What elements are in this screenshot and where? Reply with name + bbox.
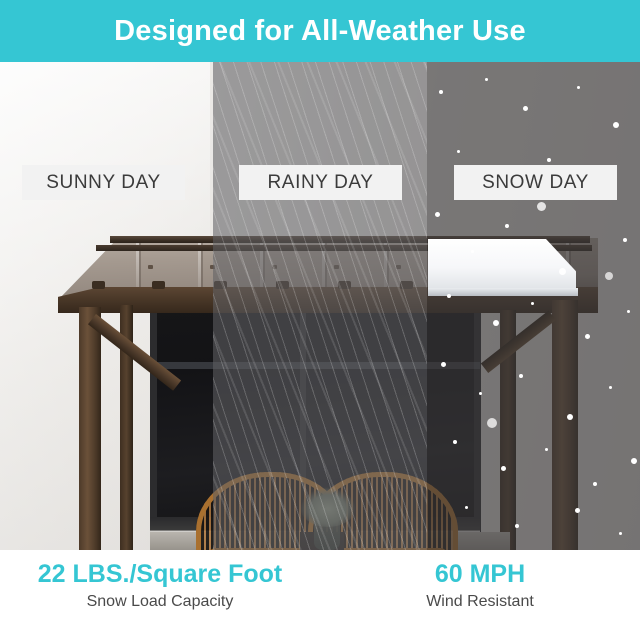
stat-snow-load-label: Snow Load Capacity (87, 592, 234, 613)
product-photo-stage: SUNNY DAY RAINY DAY SNOW DAY (0, 62, 640, 550)
weather-label-snow: SNOW DAY (454, 165, 617, 200)
footer-stats-bar: 22 LBS./Square Foot Snow Load Capacity 6… (0, 550, 640, 623)
weather-panel-sunny (0, 62, 213, 550)
stat-wind-resistance: 60 MPH Wind Resistant (320, 550, 640, 623)
header-banner: Designed for All-Weather Use (0, 0, 640, 62)
stat-wind-resistance-label: Wind Resistant (426, 592, 534, 613)
rain-streaks-secondary (213, 62, 427, 550)
weather-label-sunny: SUNNY DAY (22, 165, 185, 200)
product-feature-poster: Designed for All-Weather Use (0, 0, 640, 623)
weather-label-rainy: RAINY DAY (239, 165, 402, 200)
page-title: Designed for All-Weather Use (114, 15, 526, 48)
snowflake-group (427, 62, 640, 550)
stat-wind-resistance-value: 60 MPH (435, 560, 525, 589)
stat-snow-load: 22 LBS./Square Foot Snow Load Capacity (0, 550, 320, 623)
weather-panel-rainy (213, 62, 427, 550)
stat-snow-load-value: 22 LBS./Square Foot (38, 560, 282, 589)
